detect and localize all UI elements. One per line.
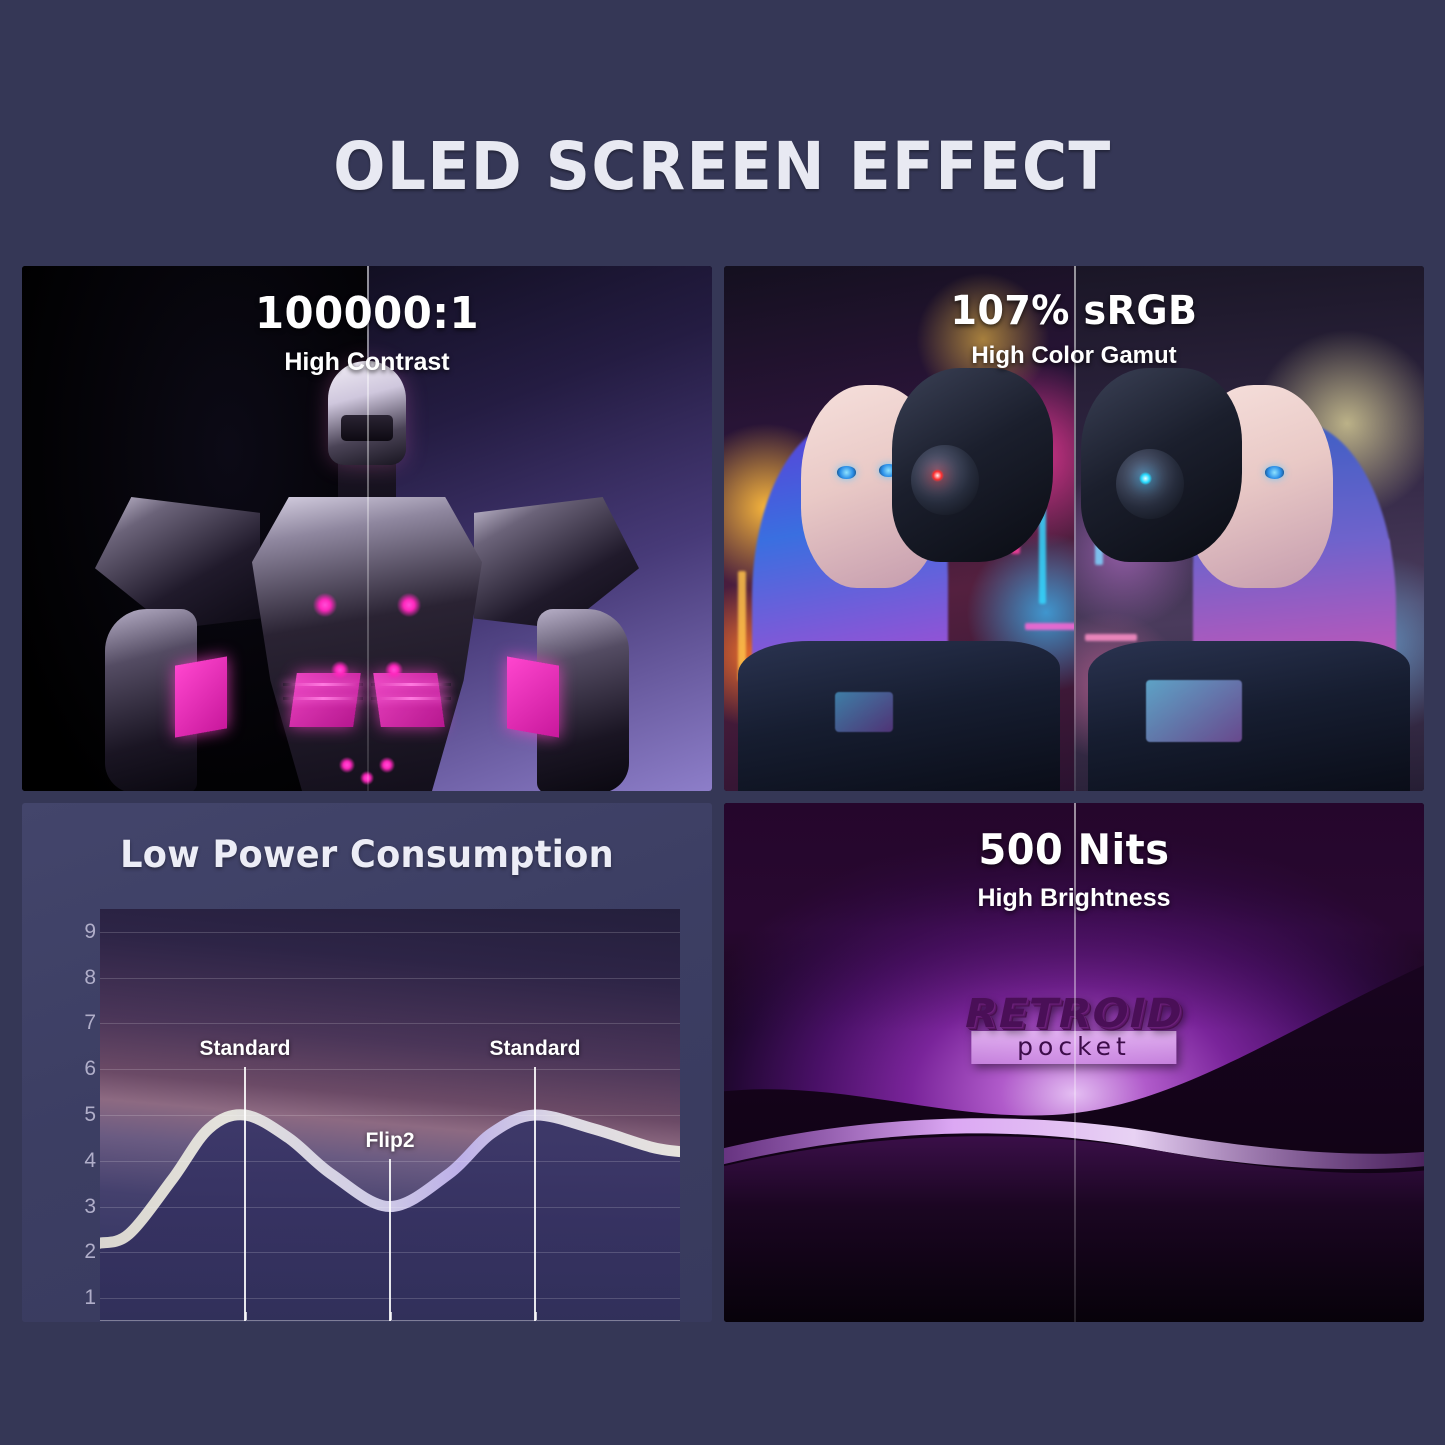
mecha-chest-vent-left bbox=[289, 673, 361, 727]
chart-y-axis: 123456789 bbox=[62, 909, 96, 1321]
cyberpunk-girl-right bbox=[1074, 350, 1424, 791]
mecha-light-strip-1 bbox=[283, 683, 363, 686]
chart-y-tick-label: 8 bbox=[84, 966, 96, 990]
mecha-chest-glow-left bbox=[331, 661, 349, 679]
girl-earcup-left bbox=[911, 445, 979, 515]
chart-annotation-label: Standard bbox=[489, 1037, 580, 1061]
chart-gridline bbox=[100, 1115, 680, 1116]
mecha-armor-slab-left bbox=[175, 656, 227, 737]
page-title: OLED SCREEN EFFECT bbox=[51, 128, 1395, 205]
chart-y-tick-label: 5 bbox=[84, 1103, 96, 1127]
chart-y-tick-label: 1 bbox=[84, 1286, 96, 1310]
panel-color-gamut: 107% sRGB High Color Gamut bbox=[724, 266, 1424, 791]
mecha-abdomen-glow-right bbox=[379, 757, 395, 773]
girl-eye-left-1 bbox=[837, 466, 855, 478]
headset-led-red bbox=[931, 469, 944, 482]
chart-y-tick-label: 6 bbox=[84, 1057, 96, 1081]
chart-plot-wrapper: StandardFlip2Standard bbox=[100, 909, 680, 1321]
panel-high-brightness: RETROID pocket 500 Nits High Brightness bbox=[724, 803, 1424, 1322]
gamut-split-divider bbox=[1074, 266, 1076, 791]
chart-y-tick-label: 9 bbox=[84, 920, 96, 944]
chart-gridline bbox=[100, 1023, 680, 1024]
panel-high-contrast: 100000:1 High Contrast bbox=[22, 266, 712, 791]
chart-annotation-marker bbox=[389, 1159, 391, 1321]
chart-gridline bbox=[100, 932, 680, 933]
girl-headset-right bbox=[1081, 368, 1242, 562]
mecha-armor-slab-right bbox=[507, 656, 559, 737]
jacket-accent-right bbox=[1146, 680, 1242, 742]
girl-jacket-left bbox=[738, 641, 1060, 791]
gamut-image-left bbox=[724, 266, 1074, 791]
mecha-core-glow-left bbox=[313, 593, 337, 617]
girl-eye-right-2 bbox=[1265, 466, 1284, 478]
chart-annotation-label: Flip2 bbox=[365, 1129, 414, 1153]
chart-y-tick-label: 4 bbox=[84, 1149, 96, 1173]
mecha-chest-vent-right bbox=[373, 673, 445, 727]
chart-y-tick-label: 2 bbox=[84, 1240, 96, 1264]
chart-gridline bbox=[100, 1069, 680, 1070]
mecha-light-strip-3 bbox=[371, 683, 451, 686]
contrast-split-divider bbox=[367, 266, 369, 791]
jacket-accent-left bbox=[835, 692, 893, 732]
mecha-light-strip-2 bbox=[283, 697, 363, 700]
feature-grid: 100000:1 High Contrast bbox=[22, 266, 1424, 1318]
chart-annotation-marker bbox=[534, 1067, 536, 1321]
chart-gridline bbox=[100, 978, 680, 979]
chart-annotation-marker bbox=[244, 1067, 246, 1321]
girl-headset-left bbox=[892, 368, 1053, 562]
chart-annotation-label: Standard bbox=[199, 1037, 290, 1061]
girl-earcup-right bbox=[1116, 449, 1184, 519]
mecha-chest-glow-right bbox=[385, 661, 403, 679]
cyberpunk-girl-left bbox=[724, 350, 1074, 791]
gamut-image-right bbox=[1074, 266, 1424, 791]
mecha-core-glow-right bbox=[397, 593, 421, 617]
girl-jacket-right bbox=[1088, 641, 1410, 791]
brightness-split-divider bbox=[1074, 803, 1076, 1322]
mecha-abdomen-glow-left bbox=[339, 757, 355, 773]
mecha-light-strip-4 bbox=[371, 697, 451, 700]
panel-low-power: Low Power Consumption 123456789 bbox=[22, 803, 712, 1322]
chart-y-tick-label: 3 bbox=[84, 1195, 96, 1219]
chart-y-tick-label: 7 bbox=[84, 1011, 96, 1035]
chart-title: Low Power Consumption bbox=[39, 833, 695, 876]
